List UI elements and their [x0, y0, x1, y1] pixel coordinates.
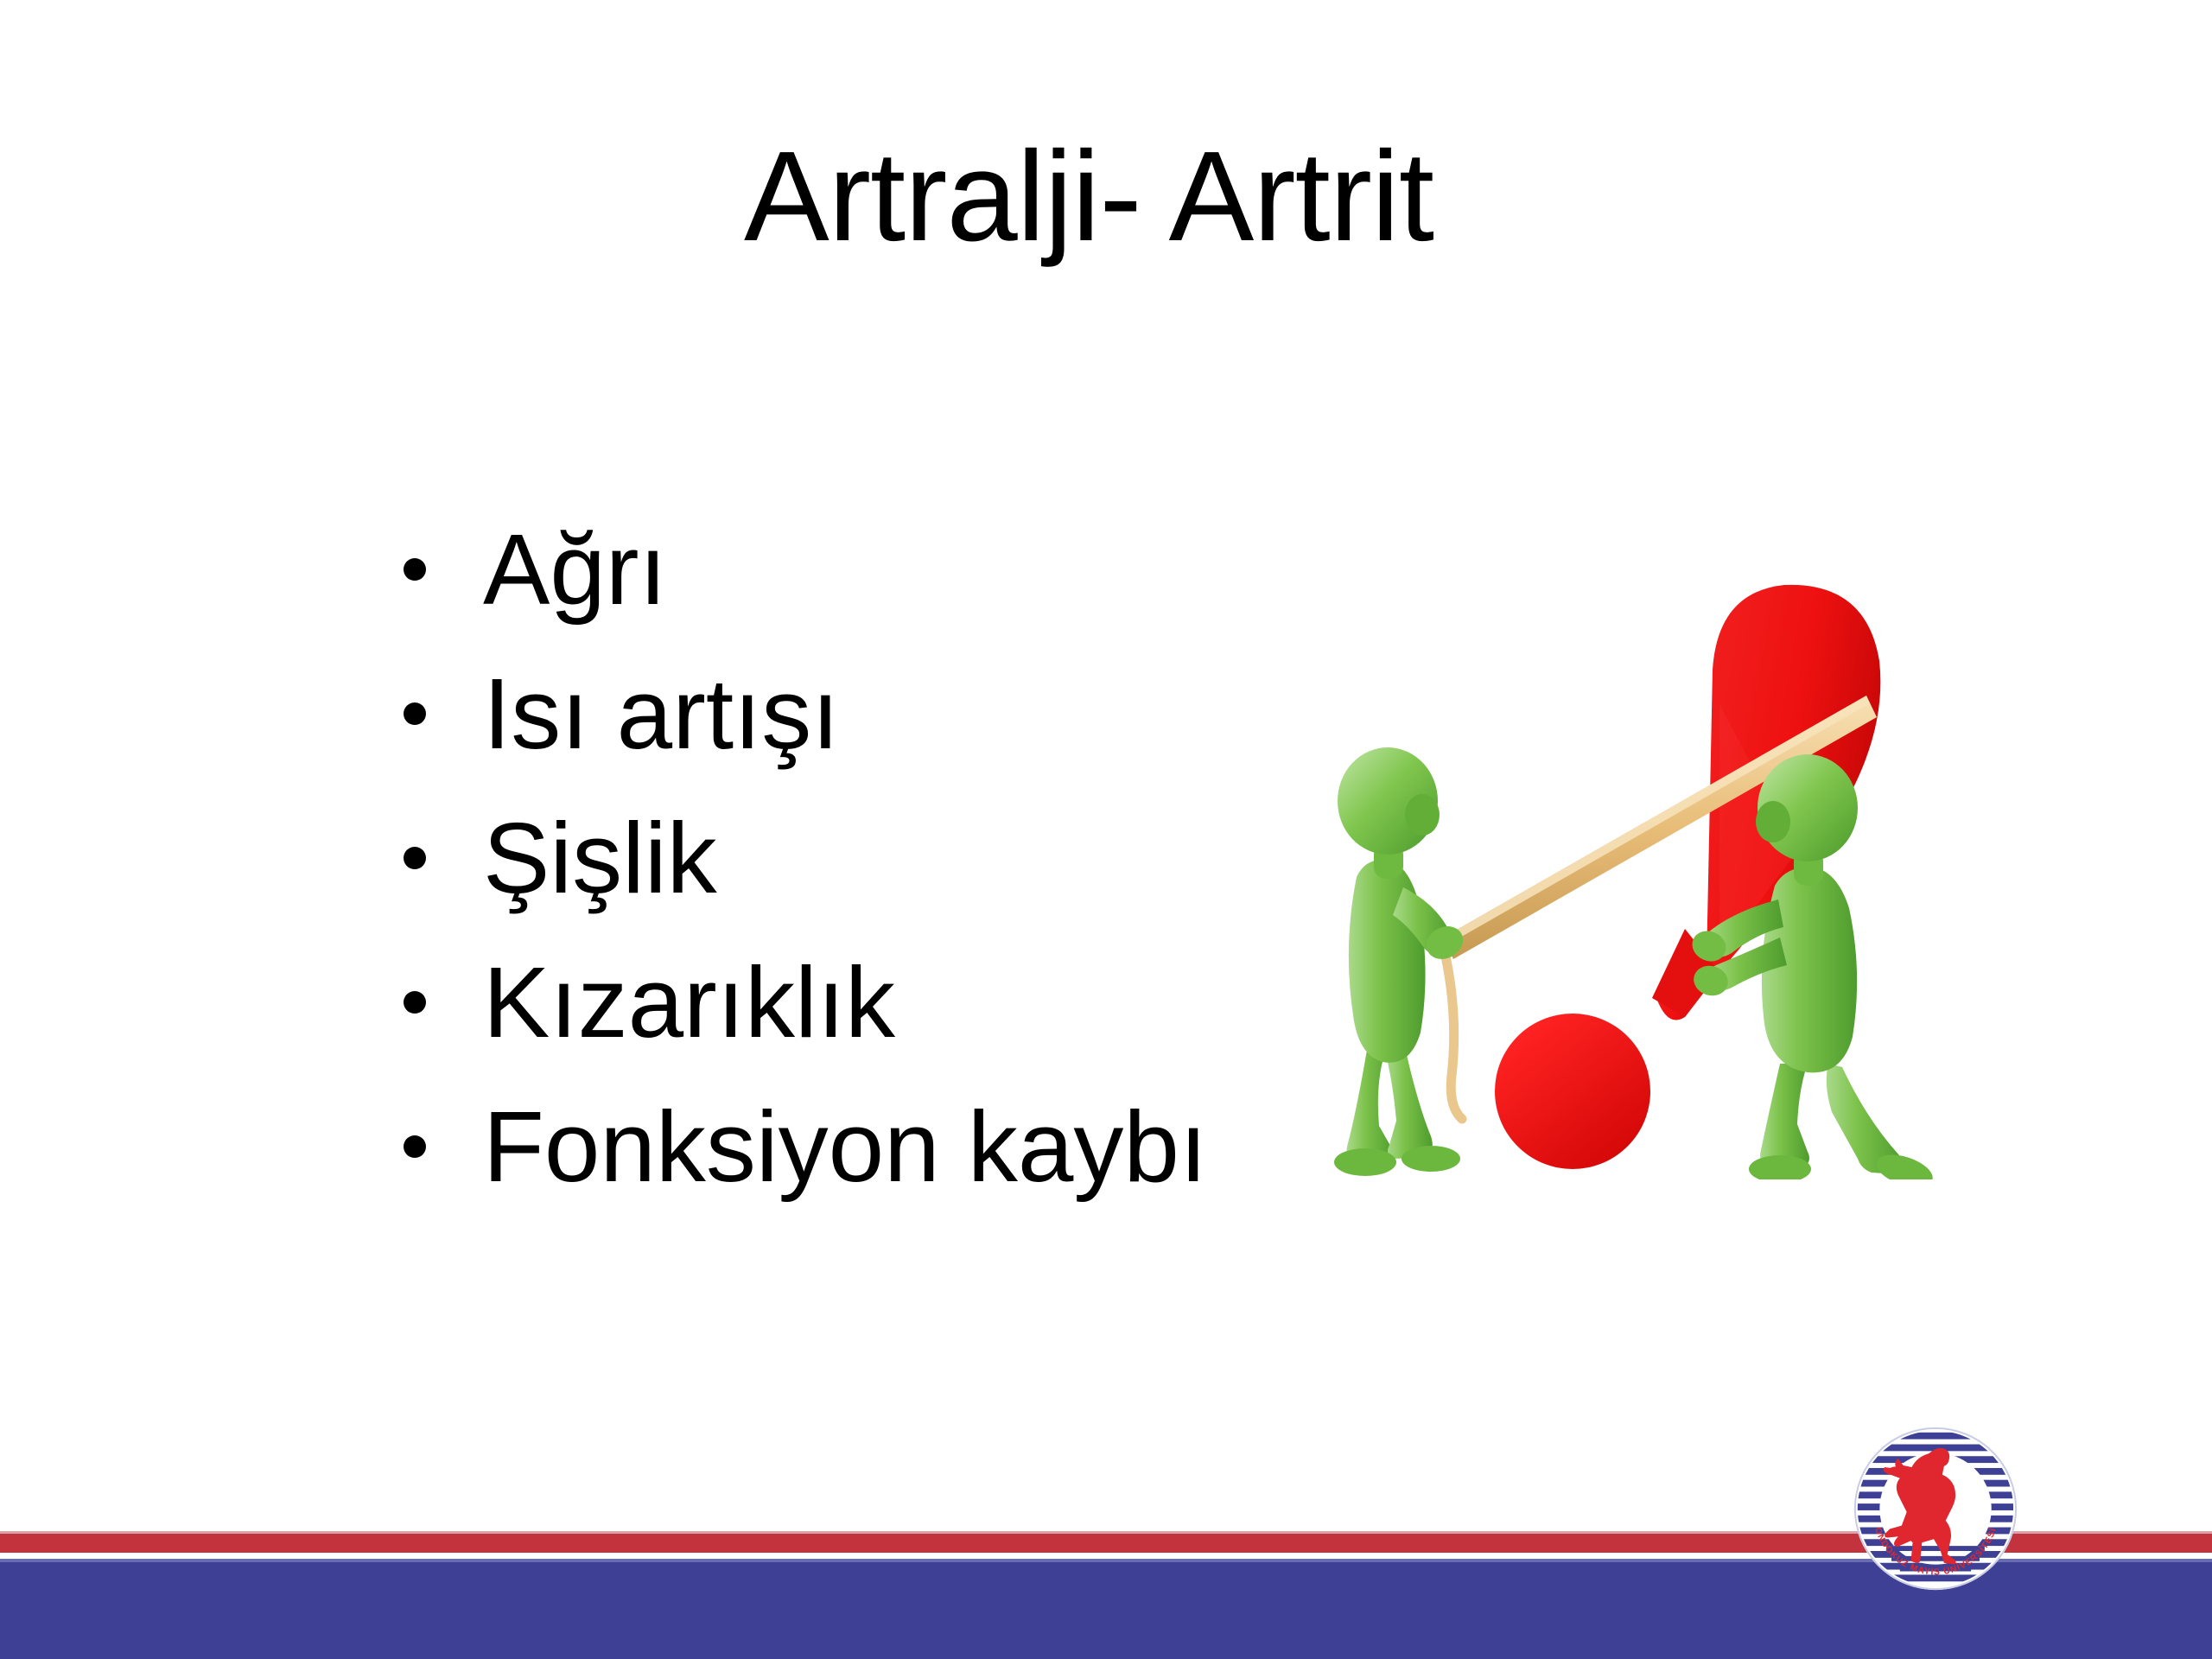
list-item-label: Fonksiyon kaybı: [483, 1096, 1207, 1197]
list-item-label: Şişlik: [483, 808, 717, 908]
bullet-point-icon: [404, 702, 426, 725]
university-logo: ONDOKUZ MAYIS ÜNİVERSİTESİ: [1851, 1424, 2020, 1593]
exclamation-mark-clipart: [1313, 566, 1996, 1179]
bullet-point-icon: [404, 558, 426, 581]
presentation-slide: Artralji- Artrit Ağrı Isı artışı Şişlik …: [0, 0, 2212, 1659]
list-item-label: Ağrı: [483, 519, 667, 620]
list-item: Isı artışı: [393, 641, 1300, 785]
bullet-list: Ağrı Isı artışı Şişlik Kızarıklık Fonksi…: [393, 497, 1300, 1218]
bullet-point-icon: [404, 1135, 426, 1158]
list-item: Şişlik: [393, 785, 1300, 930]
list-item: Kızarıklık: [393, 930, 1300, 1074]
bullet-point-icon: [404, 847, 426, 869]
list-item-label: Isı artışı: [483, 664, 840, 764]
list-item: Ağrı: [393, 497, 1300, 641]
list-item: Fonksiyon kaybı: [393, 1074, 1300, 1218]
list-item-label: Kızarıklık: [483, 952, 895, 1052]
bullet-point-icon: [404, 991, 426, 1014]
slide-title: Artralji- Artrit: [0, 130, 2212, 264]
